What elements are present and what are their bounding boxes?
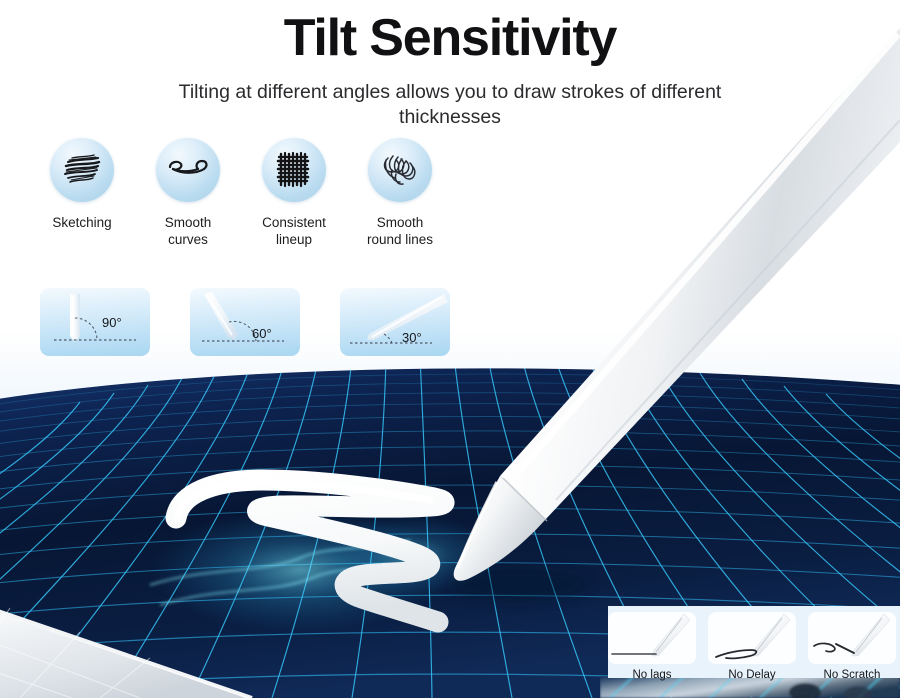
page-title: Tilt Sensitivity: [0, 8, 900, 68]
angle-demo-row: 90° 60°: [40, 288, 460, 358]
benefit-card-no-scratch: [808, 612, 896, 664]
angle-card-30: 30°: [340, 288, 450, 356]
benefit-label: No lags: [603, 669, 701, 681]
angle-value: 90°: [102, 315, 122, 330]
benefit-label: No Scratch: [803, 669, 900, 681]
page-subtitle: Tilting at different angles allows you t…: [150, 80, 750, 130]
angle-value: 60°: [252, 326, 272, 341]
feature-item-smooth-round-lines: Smooth round lines: [346, 138, 454, 248]
benefit-card-strip: No lags No Delay No Scratch: [608, 606, 900, 698]
angle-card-60: 60°: [190, 288, 300, 356]
crosshatch-square-icon: [262, 138, 326, 202]
feature-item-smooth-curves: Smooth curves: [134, 138, 242, 248]
spiral-scribble-icon: [368, 138, 432, 202]
feature-label: Consistent lineup: [240, 215, 348, 248]
angle-card-90: 90°: [40, 288, 150, 356]
header-section: Tilt Sensitivity Tilting at different an…: [0, 0, 900, 380]
feature-label: Sketching: [28, 215, 136, 232]
product-feature-graphic: Tilt Sensitivity Tilting at different an…: [0, 0, 900, 698]
scribble-hatch-icon: [50, 138, 114, 202]
feature-item-consistent-lineup: Consistent lineup: [240, 138, 348, 248]
feature-label: Smooth curves: [134, 215, 242, 248]
benefit-card-no-delay: [708, 612, 796, 664]
benefit-label: No Delay: [703, 669, 801, 681]
feature-item-sketching: Sketching: [28, 138, 136, 232]
feature-icon-row: Sketching Smooth curves: [28, 138, 468, 268]
angle-value: 30°: [402, 330, 422, 345]
loop-curve-icon: [156, 138, 220, 202]
feature-label: Smooth round lines: [346, 215, 454, 248]
benefit-card-no-lags: [608, 612, 696, 664]
